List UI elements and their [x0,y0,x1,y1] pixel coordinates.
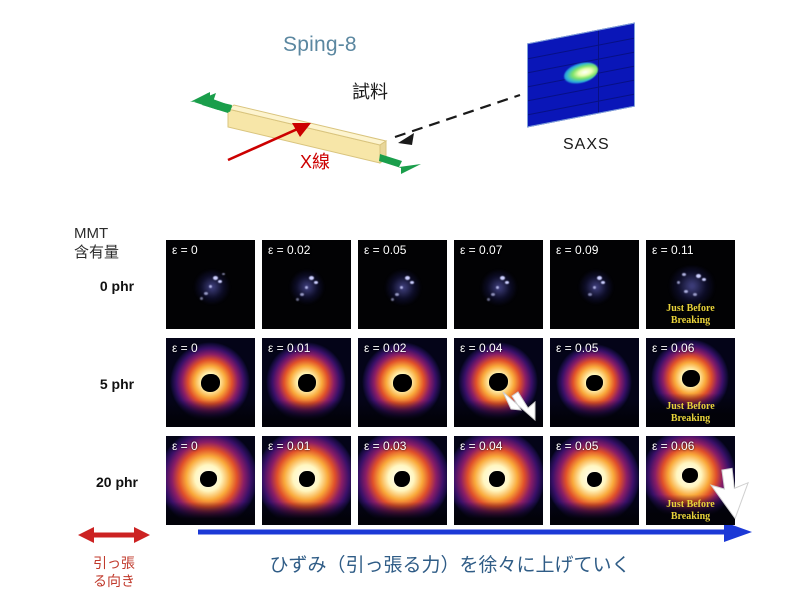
note-line2: Breaking [646,315,735,327]
strain-label: ε = 0.05 [364,243,406,257]
beamstop-icon [394,471,410,487]
strain-label: ε = 0.04 [460,439,502,453]
pull-direction-line1: 引っ張 [60,554,168,572]
note-line1: Just Before [646,401,735,413]
row-label-0phr: 0 phr [74,278,160,294]
beamstop-icon [298,374,316,392]
strain-label: ε = 0.05 [556,341,598,355]
panel-0phr-c1[interactable]: ε = 0 [166,240,255,329]
beamline-schematic: Sping-8 試料 X線 SAXS [0,0,800,210]
panel-5phr-c6[interactable]: ε = 0.06 Just Before Breaking [646,338,735,427]
beamstop-icon [682,370,700,387]
detector-label: SAXS [563,136,610,154]
just-before-breaking-note: Just Before Breaking [646,303,735,326]
panel-5phr-c4[interactable]: ε = 0.04 [454,338,543,427]
stretch-arrow-right-icon [379,154,421,174]
strain-label: ε = 0.01 [268,439,310,453]
panel-5phr-c3[interactable]: ε = 0.02 [358,338,447,427]
pointer-arrow-icon [499,388,543,427]
strain-label: ε = 0.03 [364,439,406,453]
strain-label: ε = 0 [172,341,198,355]
sample-and-beam-graphic [180,55,560,180]
panel-0phr-c2[interactable]: ε = 0.02 [262,240,351,329]
strain-label: ε = 0.06 [652,341,694,355]
pull-direction-label: 引っ張 る向き [60,554,168,590]
row-label-20phr: 20 phr [74,474,160,490]
strain-label: ε = 0 [172,243,198,257]
panel-0phr-c5[interactable]: ε = 0.09 [550,240,639,329]
strain-progress-caption: ひずみ（引っ張る力）を徐々に上げていく [170,550,730,577]
beamstop-icon [200,471,217,487]
beamstop-icon [682,468,698,483]
stretch-arrow-left-icon [190,92,232,113]
mmt-content-header: MMT 含有量 [74,225,164,263]
pull-direction-arrow-icon [76,522,152,548]
panel-20phr-c2[interactable]: ε = 0.01 [262,436,351,525]
panel-20phr-c3[interactable]: ε = 0.03 [358,436,447,525]
panel-0phr-c6[interactable]: ε = 0.11 Just Before Breaking [646,240,735,329]
saxs-pattern-grid: MMT 含有量 0 phr 5 phr 20 phr ε = 0 ε = 0.0… [0,215,800,515]
note-line2: Breaking [646,413,735,425]
bottom-annotations: 引っ張 る向き ひずみ（引っ張る力）を徐々に上げていく [0,512,800,615]
note-line1: Just Before [646,303,735,315]
beamstop-icon [299,471,315,487]
strain-label: ε = 0 [172,439,198,453]
strain-label: ε = 0.02 [364,341,406,355]
beamstop-icon [587,472,602,487]
sample-bar-icon [228,105,386,163]
beamstop-icon [586,375,603,391]
just-before-breaking-note: Just Before Breaking [646,401,735,424]
panel-5phr-c5[interactable]: ε = 0.05 [550,338,639,427]
row-label-5phr: 5 phr [74,376,160,392]
panel-20phr-c1[interactable]: ε = 0 [166,436,255,525]
panel-5phr-c1[interactable]: ε = 0 [166,338,255,427]
facility-label: Sping-8 [283,33,357,57]
strain-label: ε = 0.11 [652,243,694,257]
strain-label: ε = 0.04 [460,341,502,355]
strain-label: ε = 0.09 [556,243,598,257]
beamstop-icon [489,471,505,487]
panel-20phr-c4[interactable]: ε = 0.04 [454,436,543,525]
scattered-beam-dashed-icon [395,95,520,145]
panel-20phr-c5[interactable]: ε = 0.05 [550,436,639,525]
beamstop-icon [393,374,412,392]
mmt-header-line1: MMT [74,225,164,244]
pull-direction-line2: る向き [60,572,168,590]
saxs-detector-panel-icon [527,23,635,128]
strain-label: ε = 0.02 [268,243,310,257]
pointer-arrow-icon-2 [700,460,760,522]
strain-label: ε = 0.07 [460,243,502,257]
mmt-header-line2: 含有量 [74,244,164,263]
beamstop-icon [201,374,220,392]
panel-0phr-c3[interactable]: ε = 0.05 [358,240,447,329]
panel-5phr-c2[interactable]: ε = 0.01 [262,338,351,427]
strain-label: ε = 0.05 [556,439,598,453]
panel-0phr-c4[interactable]: ε = 0.07 [454,240,543,329]
strain-label: ε = 0.01 [268,341,310,355]
strain-label: ε = 0.06 [652,439,694,453]
